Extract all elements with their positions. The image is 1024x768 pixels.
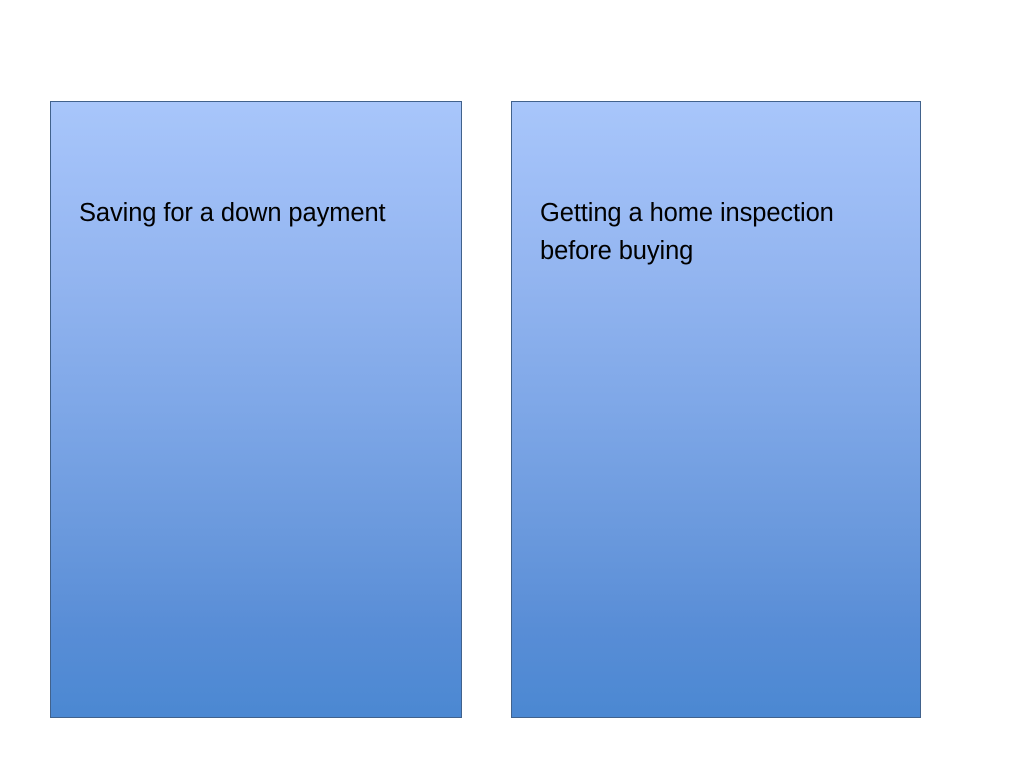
content-panel-left[interactable]: Saving for a down payment <box>50 101 462 718</box>
panel-left-text: Saving for a down payment <box>79 194 447 232</box>
content-panel-right[interactable]: Getting a home inspection before buying <box>511 101 921 718</box>
panel-right-text: Getting a home inspection before buying <box>540 194 902 270</box>
slide-canvas: Saving for a down payment Getting a home… <box>0 0 1024 768</box>
